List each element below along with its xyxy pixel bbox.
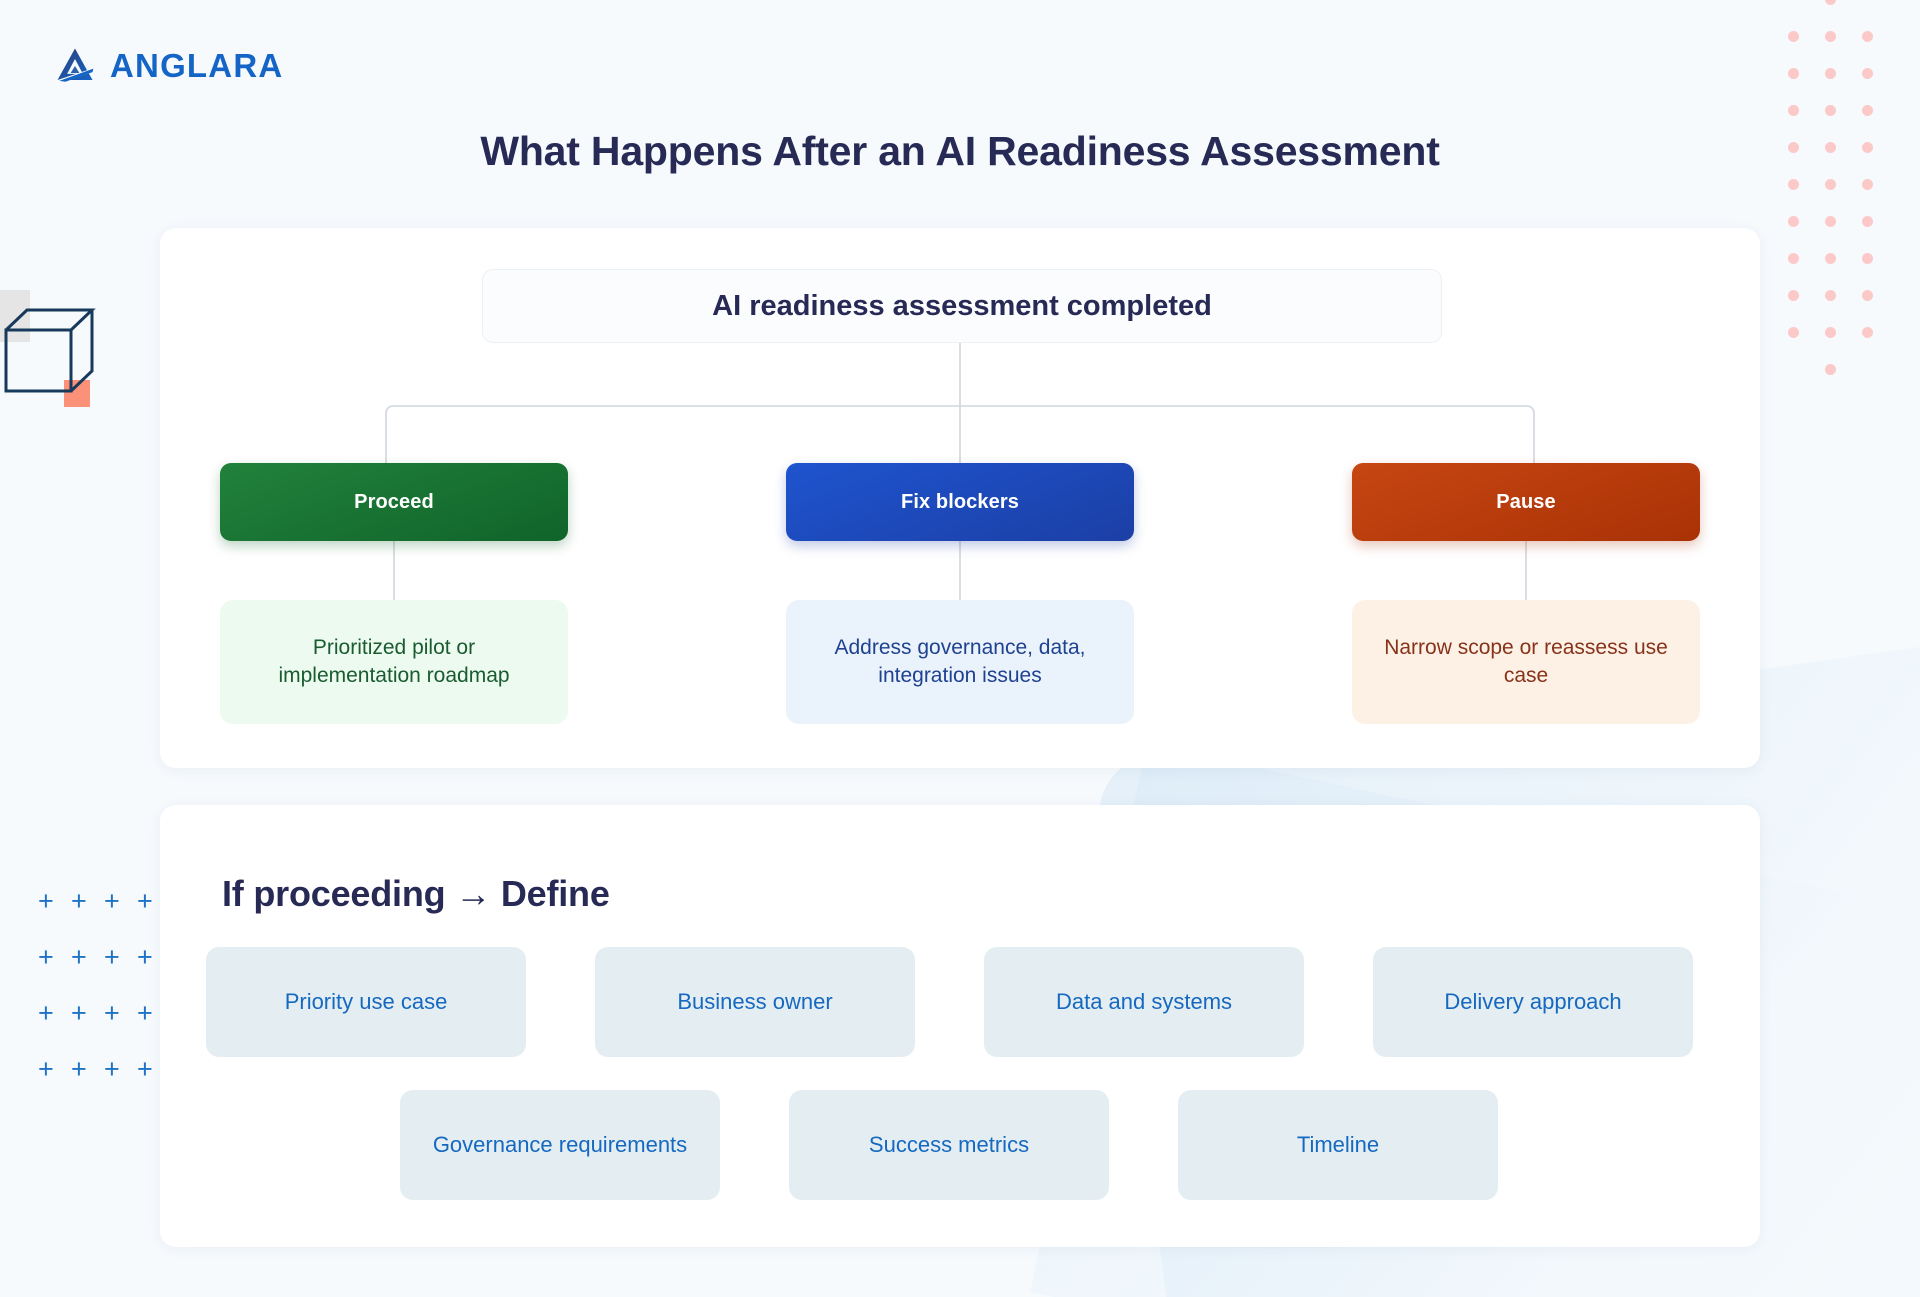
dot <box>1862 216 1873 227</box>
outcome-card-pause: Narrow scope or reassess use case <box>1352 600 1700 724</box>
dot <box>1788 253 1799 264</box>
dot <box>1825 216 1836 227</box>
page-title: What Happens After an AI Readiness Asses… <box>0 128 1920 175</box>
cube-shadow-square <box>0 290 30 342</box>
plus-icon: + <box>137 888 153 915</box>
dot <box>1862 68 1873 79</box>
define-chip[interactable]: Timeline <box>1178 1090 1498 1200</box>
plus-icon: + <box>104 1056 120 1083</box>
define-chip[interactable]: Delivery approach <box>1373 947 1693 1057</box>
dot <box>1862 105 1873 116</box>
dot <box>1862 31 1873 42</box>
dot <box>1788 179 1799 190</box>
dot <box>1825 105 1836 116</box>
anglara-triangle-logo-icon <box>54 45 96 87</box>
outcome-card-fix-blockers: Address governance, data, integration is… <box>786 600 1134 724</box>
plus-icon: + <box>104 888 120 915</box>
plus-icon: + <box>71 1000 87 1027</box>
dot <box>1825 290 1836 301</box>
dot <box>1825 253 1836 264</box>
dot <box>1788 327 1799 338</box>
decision-button-proceed[interactable]: Proceed <box>220 463 568 541</box>
dot <box>1825 327 1836 338</box>
cube-decoration <box>0 288 115 413</box>
cube-wireframe-icon <box>0 288 115 413</box>
cube-accent-square <box>64 380 90 407</box>
plus-grid-decoration: ++++++++++++++++ <box>38 888 158 1068</box>
plus-icon: + <box>137 1056 153 1083</box>
dot-grid-decoration <box>1788 0 1908 384</box>
brand-name: ANGLARA <box>110 47 283 85</box>
define-chip[interactable]: Success metrics <box>789 1090 1109 1200</box>
define-panel: If proceeding → Define Priority use case… <box>160 805 1760 1247</box>
plus-icon: + <box>38 1000 54 1027</box>
plus-icon: + <box>71 888 87 915</box>
plus-icon: + <box>137 1000 153 1027</box>
dot <box>1788 290 1799 301</box>
decision-button-pause[interactable]: Pause <box>1352 463 1700 541</box>
dot <box>1862 179 1873 190</box>
plus-icon: + <box>71 1056 87 1083</box>
plus-icon: + <box>137 944 153 971</box>
dot <box>1788 31 1799 42</box>
define-chip[interactable]: Governance requirements <box>400 1090 720 1200</box>
dot <box>1862 290 1873 301</box>
plus-icon: + <box>104 944 120 971</box>
outcome-card-proceed: Prioritized pilot or implementation road… <box>220 600 568 724</box>
dot <box>1825 68 1836 79</box>
plus-icon: + <box>38 1056 54 1083</box>
dot <box>1825 31 1836 42</box>
plus-icon: + <box>104 1000 120 1027</box>
dot <box>1788 105 1799 116</box>
dot <box>1788 68 1799 79</box>
plus-icon: + <box>38 944 54 971</box>
dot <box>1825 179 1836 190</box>
define-section-title: If proceeding → Define <box>222 873 610 915</box>
plus-icon: + <box>71 944 87 971</box>
define-chip[interactable]: Data and systems <box>984 947 1304 1057</box>
decision-button-fix-blockers[interactable]: Fix blockers <box>786 463 1134 541</box>
brand-logo[interactable]: ANGLARA <box>54 45 283 87</box>
flowchart-panel: AI readiness assessment completed Procee… <box>160 228 1760 768</box>
dot <box>1825 0 1836 5</box>
define-chips-row-secondary: Governance requirements Success metrics … <box>400 1090 1498 1200</box>
dot <box>1862 253 1873 264</box>
define-chips-row-primary: Priority use case Business owner Data an… <box>206 947 1693 1057</box>
flow-root-node: AI readiness assessment completed <box>482 269 1442 343</box>
dot <box>1825 364 1836 375</box>
dot <box>1862 327 1873 338</box>
dot <box>1788 216 1799 227</box>
plus-icon: + <box>38 888 54 915</box>
define-chip[interactable]: Business owner <box>595 947 915 1057</box>
define-chip[interactable]: Priority use case <box>206 947 526 1057</box>
